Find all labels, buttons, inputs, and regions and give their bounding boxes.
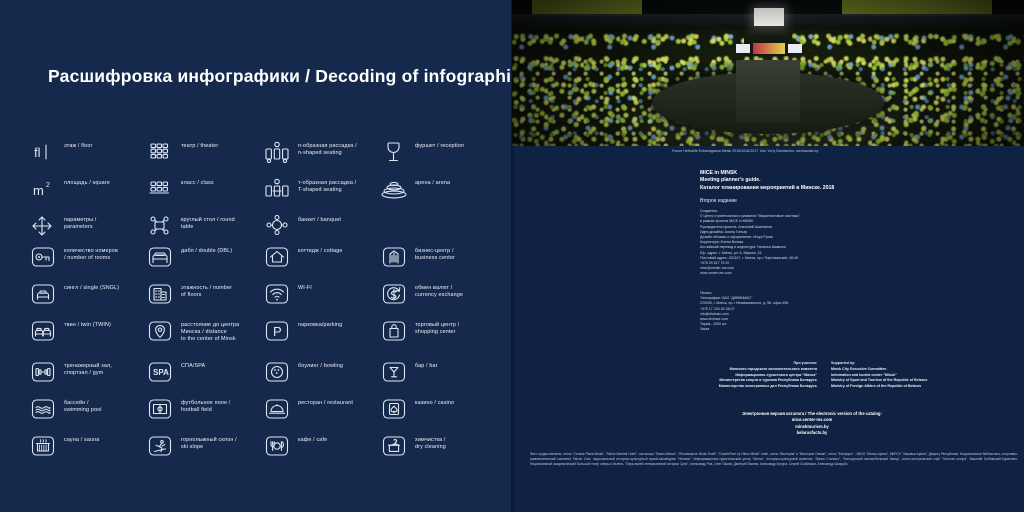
legend-item-swimming-pool: бассейн /swimming pool bbox=[28, 395, 145, 423]
legend-label: химчистка /dry cleaning bbox=[415, 432, 446, 451]
svg-text:P: P bbox=[273, 324, 282, 339]
legend-label: дабл / double (DBL) bbox=[181, 243, 232, 255]
parameters-icon bbox=[28, 212, 58, 240]
arena-icon bbox=[379, 175, 409, 203]
page-title: Расшифровка инфографики / Decoding of in… bbox=[48, 66, 531, 87]
legend-item-business-center: бизнес-центр /business center bbox=[379, 243, 496, 271]
partners-block: При участии: Минского городского исполни… bbox=[634, 361, 1014, 389]
icon-row: сауна / sauna горнолыжный склон /ski slo… bbox=[28, 432, 498, 469]
legend-label: твин / twin (TWIN) bbox=[64, 317, 111, 329]
legend-label: бизнес-центр /business center bbox=[415, 243, 455, 262]
banquet-icon bbox=[262, 212, 292, 240]
legend-label: класс / class bbox=[181, 175, 214, 187]
legend-item-distance: расстояние до центраМинска / distanceto … bbox=[145, 317, 262, 345]
facilities-block: тренажерный зал,спортзал / gym SPA СПА/S… bbox=[28, 358, 498, 469]
legend-label: бар / bar bbox=[415, 358, 438, 370]
cafe-icon bbox=[262, 432, 292, 460]
legend-label: т-образная рассадка /T-shaped seating bbox=[298, 175, 356, 194]
legend-label: ресторан / restaurant bbox=[298, 395, 353, 407]
legend-label: WI-FI bbox=[298, 280, 312, 292]
icon-row: m2 площадь / square кл bbox=[28, 175, 498, 212]
restaurant-icon bbox=[262, 395, 292, 423]
class-seating-icon bbox=[145, 175, 175, 203]
catalog-spread: Расшифровка инфографики / Decoding of in… bbox=[0, 0, 1024, 512]
legend-label: театр / theater bbox=[181, 138, 218, 150]
floor-icon: fl bbox=[28, 138, 58, 166]
round-table-icon bbox=[145, 212, 175, 240]
order-number: Заказ bbox=[700, 327, 1000, 332]
colophon-website[interactable]: mice.center-ms.com bbox=[700, 271, 1000, 276]
legend-item-banquet: банкет / banquet bbox=[262, 212, 379, 240]
key-icon bbox=[28, 243, 58, 271]
ski-slope-icon bbox=[145, 432, 175, 460]
icon-row: количество номеров/ number of rooms дабл… bbox=[28, 243, 498, 280]
legend-item-twin: твин / twin (TWIN) bbox=[28, 317, 145, 345]
legend-label: торговый центр /shopping center bbox=[415, 317, 459, 336]
casino-icon bbox=[379, 395, 409, 423]
swimming-pool-icon bbox=[28, 395, 58, 423]
n-shaped-seating-icon bbox=[262, 138, 292, 166]
partner-ru-item: Министерство иностранных дел Республики … bbox=[634, 384, 817, 389]
legend-item-sauna: сауна / sauna bbox=[28, 432, 145, 460]
legend-item-arena: арена / arena bbox=[379, 175, 496, 203]
left-page: Расшифровка инфографики / Decoding of in… bbox=[0, 0, 512, 512]
legend-item-cafe: кафе / cafe bbox=[262, 432, 379, 460]
legend-item-floor: fl этаж / floor bbox=[28, 138, 145, 166]
legend-item-theater: театр / theater bbox=[145, 138, 262, 166]
imprint-edition: Второе издание bbox=[700, 198, 1000, 205]
partner-en-item: Ministry of Foreign Affairs of the Repub… bbox=[831, 384, 1014, 389]
legend-item-bar: бар / bar bbox=[379, 358, 496, 386]
legend-label: кафе / cafe bbox=[298, 432, 327, 444]
rooms-block: количество номеров/ number of rooms дабл… bbox=[28, 243, 498, 354]
legend-label: горнолыжный склон /ski slope bbox=[181, 432, 237, 451]
imprint-block: MICE in MINSK Meeting planner's guide. К… bbox=[700, 170, 1000, 206]
legend-item-casino: казино / casino bbox=[379, 395, 496, 423]
legend-label: площадь / square bbox=[64, 175, 110, 187]
partners-ru-column: При участии: Минского городского исполни… bbox=[634, 361, 817, 389]
legend-label: коттедж / cottage bbox=[298, 243, 343, 255]
legend-label: боулинг / bowling bbox=[298, 358, 343, 370]
legend-item-bowling: боулинг / bowling bbox=[262, 358, 379, 386]
legend-label: банкет / banquet bbox=[298, 212, 341, 224]
printing-block: Печать: Типография: ОАО "ДИВИМАКС" 22000… bbox=[700, 291, 1000, 333]
legend-item-double: дабл / double (DBL) bbox=[145, 243, 262, 271]
svg-text:m: m bbox=[33, 183, 44, 198]
legend-item-class: класс / class bbox=[145, 175, 262, 203]
legend-item-n-shaped: п-образная рассадка /n-shaped seating bbox=[262, 138, 379, 166]
legend-label: СПА/SPA bbox=[181, 358, 205, 370]
legend-item-parking: P парковка/parking bbox=[262, 317, 379, 345]
sauna-icon bbox=[28, 432, 58, 460]
icon-row: тренажерный зал,спортзал / gym SPA СПА/S… bbox=[28, 358, 498, 395]
legend-label: количество номеров/ number of rooms bbox=[64, 243, 118, 262]
electronic-version-block: Электронная версия каталога / The electr… bbox=[600, 411, 1024, 437]
icon-row: сингл / single (SNGL) этажность / number… bbox=[28, 280, 498, 317]
legend-item-single: сингл / single (SNGL) bbox=[28, 280, 145, 308]
single-bed-icon bbox=[28, 280, 58, 308]
legend-label: п-образная рассадка /n-shaped seating bbox=[298, 138, 357, 157]
bowling-icon bbox=[262, 358, 292, 386]
imprint-line-2: Meeting planner's guide. bbox=[700, 177, 1000, 184]
legend-item-floors: этажность / numberof floors bbox=[145, 280, 262, 308]
dumbbell-icon bbox=[28, 358, 58, 386]
legend-item-square: m2 площадь / square bbox=[28, 175, 145, 203]
parking-icon: P bbox=[262, 317, 292, 345]
icon-row: твин / twin (TWIN) расстояние до центраМ… bbox=[28, 317, 498, 354]
cottage-icon bbox=[262, 243, 292, 271]
building-floors-icon bbox=[145, 280, 175, 308]
legend-item-ski-slope: горнолыжный склон /ski slope bbox=[145, 432, 262, 460]
t-shaped-seating-icon bbox=[262, 175, 292, 203]
legend-item-dry-cleaning: химчистка /dry cleaning bbox=[379, 432, 496, 460]
legend-label: этажность / numberof floors bbox=[181, 280, 232, 299]
legend-item-reception: фуршет / reception bbox=[379, 138, 496, 166]
square-meters-icon: m2 bbox=[28, 175, 58, 203]
legend-label: сингл / single (SNGL) bbox=[64, 280, 119, 292]
imprint-line-3: Каталог планирования мероприятий в Минск… bbox=[700, 185, 1000, 192]
business-center-icon bbox=[379, 243, 409, 271]
svg-text:2: 2 bbox=[46, 182, 50, 189]
legend-item-t-shaped: т-образная рассадка /T-shaped seating bbox=[262, 175, 379, 203]
spa-icon: SPA bbox=[145, 358, 175, 386]
map-pin-icon bbox=[145, 317, 175, 345]
legend-label: арена / arena bbox=[415, 175, 450, 187]
legend-item-football-field: футбольное поле /football field bbox=[145, 395, 262, 423]
legend-label: фуршет / reception bbox=[415, 138, 464, 150]
partners-en-column: Supported by: Minsk City Executive Commi… bbox=[831, 361, 1014, 389]
legend-label: бассейн /swimming pool bbox=[64, 395, 102, 414]
svg-text:SPA: SPA bbox=[153, 368, 169, 377]
twin-bed-icon bbox=[28, 317, 58, 345]
legend-item-wifi: WI-FI bbox=[262, 280, 379, 308]
legend-label: футбольное поле /football field bbox=[181, 395, 230, 414]
electronic-link-belarusfacts[interactable]: belarusfacts.by bbox=[600, 430, 1024, 436]
venue-block: fl этаж / floor театр bbox=[28, 138, 498, 249]
legend-label: казино / casino bbox=[415, 395, 454, 407]
legend-item-number-of-rooms: количество номеров/ number of rooms bbox=[28, 243, 145, 271]
legend-item-currency-exchange: обмен валют /currency exchange bbox=[379, 280, 496, 308]
bar-icon bbox=[379, 358, 409, 386]
reception-glass-icon bbox=[379, 138, 409, 166]
legend-label: обмен валют /currency exchange bbox=[415, 280, 463, 299]
legend-item-spa: SPA СПА/SPA bbox=[145, 358, 262, 386]
svg-text:fl: fl bbox=[34, 145, 41, 160]
shopping-bag-icon bbox=[379, 317, 409, 345]
photo-caption: Forum Herbalife Extravaganza Minsk 2015/… bbox=[672, 149, 818, 154]
legend-item-parameters: параметры /parameters bbox=[28, 212, 145, 240]
photo-vignette bbox=[512, 0, 1024, 146]
legend-label: круглый стол / roundtable bbox=[181, 212, 235, 231]
imprint-line-1: MICE in MINSK bbox=[700, 170, 1000, 177]
arena-photo bbox=[512, 0, 1024, 146]
theater-seating-icon bbox=[145, 138, 175, 166]
icon-row: fl этаж / floor театр bbox=[28, 138, 498, 175]
currency-exchange-icon bbox=[379, 280, 409, 308]
colophon-block: Создатель: © Центр стратегического разви… bbox=[700, 209, 1000, 277]
double-bed-icon bbox=[145, 243, 175, 271]
wifi-icon bbox=[262, 280, 292, 308]
legend-label: тренажерный зал,спортзал / gym bbox=[64, 358, 112, 377]
partners-en-heading: Supported by: bbox=[831, 361, 1014, 366]
legend-item-shopping-center: торговый центр /shopping center bbox=[379, 317, 496, 345]
legend-label: этаж / floor bbox=[64, 138, 92, 150]
dry-cleaning-icon bbox=[379, 432, 409, 460]
legend-item-round-table: круглый стол / roundtable bbox=[145, 212, 262, 240]
legend-item-cottage: коттедж / cottage bbox=[262, 243, 379, 271]
photo-credits: Фото предоставлены: отель "Crowne Plaza … bbox=[530, 452, 1018, 467]
legend-label: парковка/parking bbox=[298, 317, 342, 329]
legend-item-restaurant: ресторан / restaurant bbox=[262, 395, 379, 423]
legend-label: параметры /parameters bbox=[64, 212, 96, 231]
legend-label: сауна / sauna bbox=[64, 432, 99, 444]
legend-item-gym: тренажерный зал,спортзал / gym bbox=[28, 358, 145, 386]
football-field-icon bbox=[145, 395, 175, 423]
partners-ru-heading: При участии: bbox=[634, 361, 817, 366]
legend-label: расстояние до центраМинска / distanceto … bbox=[181, 317, 239, 344]
legend-item-empty bbox=[379, 212, 496, 240]
icon-row: бассейн /swimming pool футбольное поле /… bbox=[28, 395, 498, 432]
